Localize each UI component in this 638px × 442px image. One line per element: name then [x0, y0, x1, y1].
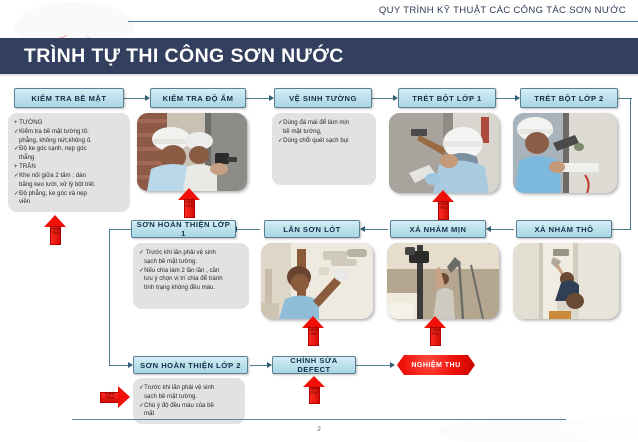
- connector-s5-wrap-h2: [612, 229, 631, 230]
- banner-shadow: [0, 74, 638, 77]
- note-line: ✓Trước khi lăn phải vệ sinh: [139, 384, 238, 393]
- note-line: + TRẦN: [14, 163, 123, 172]
- note-line: lưu ý chọn vị trí chia để tránh: [139, 275, 242, 284]
- note-line: mặt: [139, 410, 238, 419]
- connector-s9-wrap-h1: [109, 229, 131, 230]
- header-rule: [128, 21, 638, 22]
- connector-s7-s8: [364, 229, 388, 230]
- note-line: tình trạng không đều màu.: [139, 284, 242, 293]
- check-arrow-do-am: KIỂM TRA: [178, 188, 200, 218]
- connector-arrow-s7: [486, 226, 491, 232]
- note-line: ✓Độ ke góc cạnh, nẹp góc: [14, 145, 123, 154]
- check-arrow-label: KIỂM TRA: [432, 202, 454, 210]
- step-chinh-sua-defect[interactable]: CHỈNH SỬA DEFECT: [272, 356, 356, 374]
- step-tret-bot-lop-1[interactable]: TRÉT BỘT LỚP 1: [398, 88, 496, 108]
- check-arrow-label: KIỂM TRA: [302, 328, 324, 336]
- check-arrow-chinh-sua-defect: KIỂM TRA: [303, 376, 325, 404]
- note-line: ✓Kiểm tra bề mặt tường tô:: [14, 128, 123, 137]
- connector-s3-s4: [372, 98, 394, 99]
- connector-arrow-s8: [360, 226, 365, 232]
- connector-s5-wrap-v: [630, 98, 631, 230]
- check-arrow-xa-nham-min: KIỂM TRA: [424, 316, 446, 346]
- note-line: bề mặt tường,: [278, 128, 369, 137]
- photo-xa-nham-min: [387, 243, 499, 319]
- note-line: ✓Khe nối giữa 2 tấm : dán: [14, 172, 123, 181]
- note-line: ✓Dùng đá mài để làm mịn: [278, 119, 369, 128]
- note-son-hoan-thien-lop-1: ✓ Trước khi lăn phải vệ sinh sạch bề mặt…: [133, 243, 249, 309]
- photo-tret-bot-lop-2: [513, 113, 617, 193]
- header-title: QUY TRÌNH KỸ THUẬT CÁC CÔNG TÁC SƠN NƯỚC: [379, 5, 626, 16]
- check-arrow-tret-bot-1: KIỂM TRA: [432, 190, 454, 220]
- check-arrow-son-hoan-thien-lop-2: KIỂM TRA: [100, 386, 130, 408]
- note-line: băng keo lưới, xử lý bột trét.: [14, 181, 123, 190]
- connector-s9-wrap-v: [109, 229, 110, 366]
- note-line: viền: [14, 198, 123, 207]
- photo-tret-bot-lop-1: [389, 113, 499, 193]
- step-xa-nham-tho[interactable]: XẢ NHÁM THÔ: [516, 220, 612, 238]
- note-line: ✓Độ phẳng, ke góc và nẹp: [14, 190, 123, 199]
- check-arrow-label: KIỂM TRA: [303, 387, 325, 395]
- note-line: sạch bề mặt tường.: [139, 258, 242, 267]
- step-son-hoan-thien-lop-2[interactable]: SƠN HOÀN THIỆN LỚP 2: [133, 356, 248, 374]
- connector-s1-s2: [124, 98, 146, 99]
- check-arrow-be-mat: KIỂM TRA: [44, 215, 66, 245]
- photo-xa-nham-tho: [513, 243, 619, 319]
- note-line: sạch bề mặt tường.: [139, 393, 238, 402]
- note-line: ✓Nếu chia làm 2 lần lăn , cần: [139, 267, 242, 276]
- check-arrow-lan-son-lot: KIỂM TRA: [302, 316, 324, 346]
- check-arrow-label: KIỂM TRA: [424, 328, 446, 336]
- note-line: ✓Chú ý độ đều màu của bề: [139, 402, 238, 411]
- step-lan-son-lot[interactable]: LĂN SƠN LÓT: [264, 220, 360, 238]
- check-arrow-label: KIỂM TRA: [178, 200, 200, 208]
- photo-lan-son-lot: [261, 243, 373, 319]
- page-title: TRÌNH TỰ THI CÔNG SƠN NƯỚC: [24, 45, 344, 68]
- slide-canvas: QUY TRÌNH KỸ THUẬT CÁC CÔNG TÁC SƠN NƯỚC…: [0, 0, 638, 442]
- connector-s6-s7: [490, 229, 514, 230]
- connector-arrow-s12: [390, 362, 395, 368]
- note-line: thẳng: [14, 154, 123, 163]
- connector-s2-s3: [246, 98, 270, 99]
- note-line: phẳng, không nứt,không ố.: [14, 137, 123, 146]
- connector-s4-s5: [496, 98, 516, 99]
- connector-s8-s9: [236, 229, 260, 230]
- page-number: 2: [0, 426, 638, 433]
- connector-s9-wrap-h2: [109, 365, 130, 366]
- photo-kiem-tra-do-am: [137, 113, 247, 191]
- step-kiem-tra-be-mat[interactable]: KIỂM TRA BỀ MẶT: [14, 88, 124, 108]
- note-kiem-tra-be-mat: + TƯỜNG ✓Kiểm tra bề mặt tường tô: phẳng…: [8, 113, 130, 212]
- step-kiem-tra-do-am[interactable]: KIỂM TRA ĐỘ ẨM: [150, 88, 246, 108]
- footer-rule: [72, 419, 566, 420]
- step-son-hoan-thien-lop-1[interactable]: SƠN HOÀN THIỆN LỚP 1: [131, 220, 236, 238]
- note-son-hoan-thien-lop-2: ✓Trước khi lăn phải vệ sinh sạch bề mặt …: [133, 378, 245, 424]
- note-line: ✓ Trước khi lăn phải vệ sinh: [139, 249, 242, 258]
- check-arrow-label: KIỂM TRA: [44, 227, 66, 235]
- step-ve-sinh-tuong[interactable]: VỆ SINH TƯỜNG: [274, 88, 372, 108]
- note-ve-sinh-tuong: ✓Dùng đá mài để làm mịn bề mặt tường, ✓D…: [272, 113, 376, 185]
- connector-s11-s12: [355, 365, 392, 366]
- note-line: + TƯỜNG: [14, 119, 123, 128]
- step-nghiem-thu[interactable]: NGHIỆM THU: [397, 355, 475, 375]
- arrow-head: [118, 386, 130, 408]
- note-line: ✓Dùng chổi quét sạch bụi: [278, 137, 369, 146]
- check-arrow-label: KIỂM TRA: [101, 392, 120, 400]
- step-xa-nham-min[interactable]: XẢ NHÁM MỊN: [390, 220, 486, 238]
- step-tret-bot-lop-2[interactable]: TRÉT BỘT LỚP 2: [520, 88, 618, 108]
